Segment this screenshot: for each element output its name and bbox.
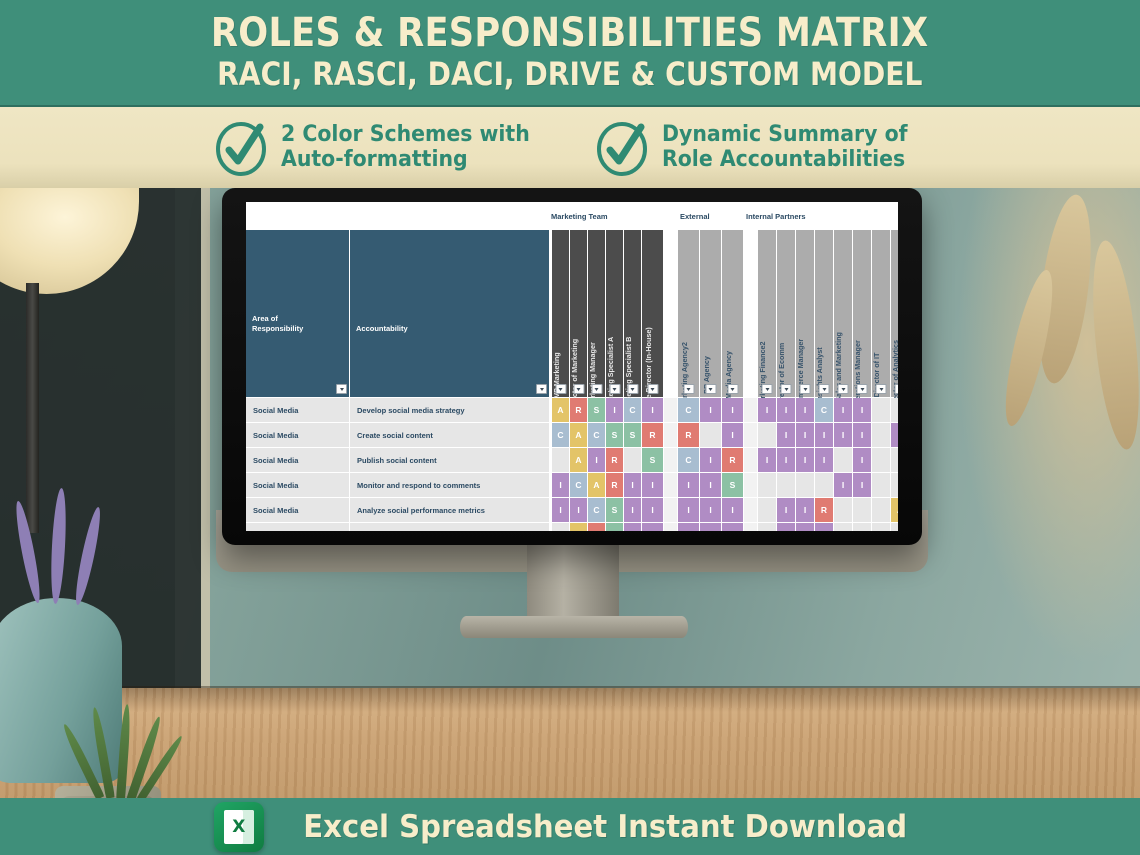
column-header-ma2[interactable]: Marketing Agency2 xyxy=(678,230,700,398)
cell-vpm[interactable]: A xyxy=(552,398,570,423)
cell-svp[interactable] xyxy=(834,448,853,473)
cell-doe[interactable]: I xyxy=(777,423,796,448)
column-header-em[interactable]: Ecommerce Manager xyxy=(796,230,815,398)
footer-label: Excel Spreadsheet Instant Download xyxy=(303,809,907,845)
filter-dropdown-msa[interactable] xyxy=(609,384,620,394)
cell-mea[interactable]: S xyxy=(722,473,744,498)
table-row[interactable]: Social MediaCreate social contentCACSSRR… xyxy=(246,423,898,448)
monitor-stand-neck xyxy=(527,545,619,623)
column-header-svp[interactable]: SVP Sales and Marketing xyxy=(834,230,853,398)
cell-cd[interactable]: I xyxy=(642,498,664,523)
cell-msa[interactable]: R xyxy=(606,448,624,473)
filter-dropdown-em[interactable] xyxy=(800,384,811,394)
column-header-mf2[interactable]: Marketing Finance2 xyxy=(758,230,777,398)
filter-dropdown-da[interactable] xyxy=(895,384,899,394)
cell-pra[interactable]: I xyxy=(700,523,722,531)
cell-msb[interactable]: I xyxy=(624,498,642,523)
feature-label: Dynamic Summary of Role Accountabilities xyxy=(662,123,908,172)
cell-dom[interactable]: A xyxy=(570,523,588,531)
cell-da[interactable] xyxy=(891,398,898,423)
column-header-doe[interactable]: Director of Ecomm xyxy=(777,230,796,398)
cell-em[interactable]: I xyxy=(796,423,815,448)
column-header-msa[interactable]: Marketing Specialist A xyxy=(606,230,624,398)
cell-da[interactable] xyxy=(891,523,898,531)
cell-acct[interactable]: Develop social media strategy xyxy=(350,398,550,423)
cell-dit[interactable] xyxy=(872,498,891,523)
filter-dropdown-ma2[interactable] xyxy=(683,384,694,394)
cell-acct[interactable]: Analyze social performance metrics xyxy=(350,498,550,523)
filter-dropdown-mea[interactable] xyxy=(727,384,738,394)
cell-ma2[interactable]: C xyxy=(678,448,700,473)
check-circle-icon xyxy=(595,119,649,177)
cell-mea[interactable]: I xyxy=(722,498,744,523)
cell-spacer xyxy=(744,473,758,498)
group-header-label: External xyxy=(680,212,710,221)
monitor-stand-base xyxy=(460,616,688,638)
cell-svp[interactable] xyxy=(834,498,853,523)
cell-da[interactable]: A xyxy=(891,498,898,523)
cell-msa[interactable]: S xyxy=(606,423,624,448)
cell-spacer xyxy=(664,448,678,473)
cell-msb[interactable]: I xyxy=(624,473,642,498)
cell-msa[interactable]: S xyxy=(606,498,624,523)
cell-acct[interactable]: Publish social content xyxy=(350,448,550,473)
page-subtitle: RACI, RASCI, DACI, DRIVE & CUSTOM MODEL xyxy=(217,58,922,92)
filter-dropdown-dom[interactable] xyxy=(573,384,584,394)
check-circle-icon xyxy=(214,119,268,177)
feature-line-1: 2 Color Schemes with xyxy=(281,122,530,147)
cell-em[interactable]: I xyxy=(796,448,815,473)
title-banner: ROLES & RESPONSIBILITIES MATRIX RACI, RA… xyxy=(0,0,1140,105)
column-header-vpm[interactable]: VP Marketing xyxy=(552,230,570,398)
filter-dropdown-pra[interactable] xyxy=(705,384,716,394)
feature-line-2: Role Accountabilities xyxy=(662,147,905,172)
filter-dropdown-om[interactable] xyxy=(857,384,868,394)
cell-mm[interactable]: R xyxy=(588,523,606,531)
page-title: ROLES & RESPONSIBILITIES MATRIX xyxy=(211,13,928,54)
cell-cd[interactable]: I xyxy=(642,523,664,531)
cell-spacer xyxy=(664,498,678,523)
cell-acct[interactable] xyxy=(350,523,550,531)
column-header-da[interactable]: Director of Analytics xyxy=(891,230,898,398)
feature-banner: 2 Color Schemes with Auto-formatting Dyn… xyxy=(0,105,1140,188)
cell-doe[interactable]: I xyxy=(777,398,796,423)
cell-area[interactable]: Social Media xyxy=(246,498,350,523)
feature-item-color-schemes: 2 Color Schemes with Auto-formatting xyxy=(214,119,549,177)
cell-doe[interactable]: I xyxy=(777,498,796,523)
column-header-mm[interactable]: Marketing Manager xyxy=(588,230,606,398)
cell-dit[interactable] xyxy=(872,423,891,448)
cell-mf2[interactable] xyxy=(758,473,777,498)
filter-dropdown-mf2[interactable] xyxy=(762,384,773,394)
column-header-mea[interactable]: Media Agency xyxy=(722,230,744,398)
cell-pra[interactable]: I xyxy=(700,498,722,523)
cell-da[interactable] xyxy=(891,448,898,473)
cell-svp[interactable] xyxy=(834,523,853,531)
cell-spacer xyxy=(744,398,758,423)
cell-om[interactable] xyxy=(853,498,872,523)
cell-ma2[interactable]: I xyxy=(678,523,700,531)
column-header-label: Insights Analyst xyxy=(815,347,824,402)
filter-dropdown-mm[interactable] xyxy=(591,384,602,394)
cell-mm[interactable]: S xyxy=(588,398,606,423)
monitor-bezel: Marketing TeamExternalInternal Partners … xyxy=(222,188,922,545)
cell-mf2[interactable]: I xyxy=(758,448,777,473)
cell-msa[interactable]: I xyxy=(606,398,624,423)
cell-msb[interactable]: I xyxy=(624,523,642,531)
cell-mm[interactable]: A xyxy=(588,473,606,498)
column-header-acct[interactable]: Accountability xyxy=(350,230,550,398)
cell-cd[interactable]: I xyxy=(642,473,664,498)
matrix-data-rows: Social MediaDevelop social media strateg… xyxy=(246,398,898,531)
table-row[interactable]: Social MediaMonitor and respond to comme… xyxy=(246,473,898,498)
cell-vpm[interactable]: I xyxy=(552,498,570,523)
cell-mf2[interactable]: I xyxy=(758,398,777,423)
cell-area[interactable]: Social Media xyxy=(246,423,350,448)
cell-pra[interactable]: I xyxy=(700,398,722,423)
cell-doe[interactable]: I xyxy=(777,448,796,473)
column-header-om[interactable]: Operations Manager xyxy=(853,230,872,398)
cell-vpm[interactable] xyxy=(552,523,570,531)
cell-spacer xyxy=(744,423,758,448)
filter-dropdown-area[interactable] xyxy=(336,384,347,394)
desk-lamp-arm xyxy=(26,283,39,533)
cell-pra[interactable] xyxy=(700,423,722,448)
cell-svp[interactable]: I xyxy=(834,423,853,448)
cell-msa[interactable]: S xyxy=(606,523,624,531)
cell-ia[interactable]: R xyxy=(815,498,834,523)
column-header-msb[interactable]: Marketing Specialist B xyxy=(624,230,642,398)
cell-mf2[interactable] xyxy=(758,523,777,531)
column-header-ia[interactable]: Insights Analyst xyxy=(815,230,834,398)
feature-label: 2 Color Schemes with Auto-formatting xyxy=(281,123,530,172)
cell-dom[interactable]: I xyxy=(570,498,588,523)
cell-mea[interactable]: I xyxy=(722,423,744,448)
cell-spacer xyxy=(664,473,678,498)
cell-ia[interactable]: I xyxy=(815,523,834,531)
filter-dropdown-msb[interactable] xyxy=(627,384,638,394)
cell-spacer xyxy=(664,423,678,448)
cell-ma2[interactable]: I xyxy=(678,473,700,498)
cell-dit[interactable] xyxy=(872,448,891,473)
table-row[interactable]: ARSIIIIIIII xyxy=(246,523,898,531)
cell-pra[interactable]: I xyxy=(700,473,722,498)
cell-em[interactable]: I xyxy=(796,398,815,423)
table-row[interactable]: Social MediaPublish social contentAIRSCI… xyxy=(246,448,898,473)
filter-dropdown-svp[interactable] xyxy=(838,384,849,394)
cell-mm[interactable]: C xyxy=(588,498,606,523)
cell-doe[interactable]: I xyxy=(777,523,796,531)
cell-ma2[interactable]: C xyxy=(678,398,700,423)
cell-svp[interactable]: I xyxy=(834,398,853,423)
cell-ia[interactable]: C xyxy=(815,398,834,423)
cell-msb[interactable]: C xyxy=(624,398,642,423)
cell-om[interactable]: I xyxy=(853,448,872,473)
column-header-pra[interactable]: PR Agency xyxy=(700,230,722,398)
column-header-area[interactable]: Area ofResponsibility xyxy=(246,230,350,398)
cell-dom[interactable]: R xyxy=(570,398,588,423)
cell-em[interactable]: I xyxy=(796,498,815,523)
cell-acct[interactable]: Create social content xyxy=(350,423,550,448)
filter-dropdown-cd[interactable] xyxy=(647,384,658,394)
cell-cd[interactable]: S xyxy=(642,448,664,473)
cell-ia[interactable]: I xyxy=(815,448,834,473)
cell-spacer xyxy=(744,448,758,473)
cell-ma2[interactable]: R xyxy=(678,423,700,448)
cell-spacer xyxy=(744,498,758,523)
cell-msa[interactable]: R xyxy=(606,473,624,498)
cell-om[interactable]: I xyxy=(853,423,872,448)
cell-vpm[interactable]: C xyxy=(552,423,570,448)
cell-msb[interactable]: S xyxy=(624,423,642,448)
cell-dom[interactable]: A xyxy=(570,423,588,448)
cell-da[interactable] xyxy=(891,473,898,498)
cell-spacer xyxy=(664,398,678,423)
cell-area[interactable]: Social Media xyxy=(246,398,350,423)
cell-dit[interactable] xyxy=(872,473,891,498)
cell-ia[interactable]: I xyxy=(815,423,834,448)
column-header-gap1 xyxy=(664,230,678,398)
cell-msb[interactable] xyxy=(624,448,642,473)
filter-dropdown-ia[interactable] xyxy=(819,384,830,394)
cell-om[interactable]: I xyxy=(853,473,872,498)
cell-em[interactable] xyxy=(796,473,815,498)
filter-dropdown-vpm[interactable] xyxy=(555,384,566,394)
cell-acct[interactable]: Monitor and respond to comments xyxy=(350,473,550,498)
feature-line-1: Dynamic Summary of xyxy=(662,122,908,147)
column-header-dit[interactable]: Director of IT xyxy=(872,230,891,398)
cell-cd[interactable]: R xyxy=(642,423,664,448)
group-header-row: Marketing TeamExternalInternal Partners xyxy=(246,202,898,230)
cell-vpm[interactable]: I xyxy=(552,473,570,498)
cell-spacer xyxy=(664,523,678,531)
filter-dropdown-acct[interactable] xyxy=(536,384,547,394)
cell-ma2[interactable]: I xyxy=(678,498,700,523)
column-header-gap2 xyxy=(744,230,758,398)
cell-mm[interactable]: I xyxy=(588,448,606,473)
cell-dit[interactable] xyxy=(872,398,891,423)
cell-doe[interactable] xyxy=(777,473,796,498)
cell-ia[interactable] xyxy=(815,473,834,498)
column-header-label: Accountability xyxy=(356,324,408,333)
filter-dropdown-dit[interactable] xyxy=(876,384,887,394)
cell-area[interactable]: Social Media xyxy=(246,448,350,473)
cell-pra[interactable]: I xyxy=(700,448,722,473)
cell-area[interactable] xyxy=(246,523,350,531)
feature-line-2: Auto-formatting xyxy=(281,147,468,172)
cell-spacer xyxy=(744,523,758,531)
cell-dom[interactable]: A xyxy=(570,448,588,473)
table-row[interactable]: Social MediaAnalyze social performance m… xyxy=(246,498,898,523)
column-header-dom[interactable]: Director of Marketing xyxy=(570,230,588,398)
cell-om[interactable]: I xyxy=(853,398,872,423)
raci-matrix-spreadsheet[interactable]: Marketing TeamExternalInternal Partners … xyxy=(246,202,898,531)
cell-em[interactable]: I xyxy=(796,523,815,531)
cell-area[interactable]: Social Media xyxy=(246,473,350,498)
cell-dom[interactable]: C xyxy=(570,473,588,498)
cell-om[interactable] xyxy=(853,523,872,531)
table-row[interactable]: Social MediaDevelop social media strateg… xyxy=(246,398,898,423)
excel-icon-letter: X xyxy=(224,810,254,844)
cell-svp[interactable]: I xyxy=(834,473,853,498)
column-header-cd[interactable]: Creative Director (In-House) xyxy=(642,230,664,398)
monitor-screen: Marketing TeamExternalInternal Partners … xyxy=(246,202,898,531)
cell-mea[interactable]: R xyxy=(722,448,744,473)
group-header-label: Marketing Team xyxy=(551,212,608,221)
cell-mea[interactable]: I xyxy=(722,523,744,531)
cell-mf2[interactable] xyxy=(758,423,777,448)
cell-dit[interactable] xyxy=(872,523,891,531)
footer-banner: X Excel Spreadsheet Instant Download xyxy=(0,798,1140,855)
cell-vpm[interactable] xyxy=(552,448,570,473)
excel-file-icon: X xyxy=(214,802,264,852)
column-header-label: Area ofResponsibility xyxy=(252,314,303,333)
filter-dropdown-doe[interactable] xyxy=(781,384,792,394)
cell-mea[interactable]: I xyxy=(722,398,744,423)
cell-mm[interactable]: C xyxy=(588,423,606,448)
cell-mf2[interactable] xyxy=(758,498,777,523)
cell-da[interactable]: I xyxy=(891,423,898,448)
cell-cd[interactable]: I xyxy=(642,398,664,423)
feature-item-dynamic-summary: Dynamic Summary of Role Accountabilities xyxy=(595,119,926,177)
group-header-label: Internal Partners xyxy=(746,212,806,221)
column-header-row: Area ofResponsibilityAccountabilityVP Ma… xyxy=(246,230,898,398)
